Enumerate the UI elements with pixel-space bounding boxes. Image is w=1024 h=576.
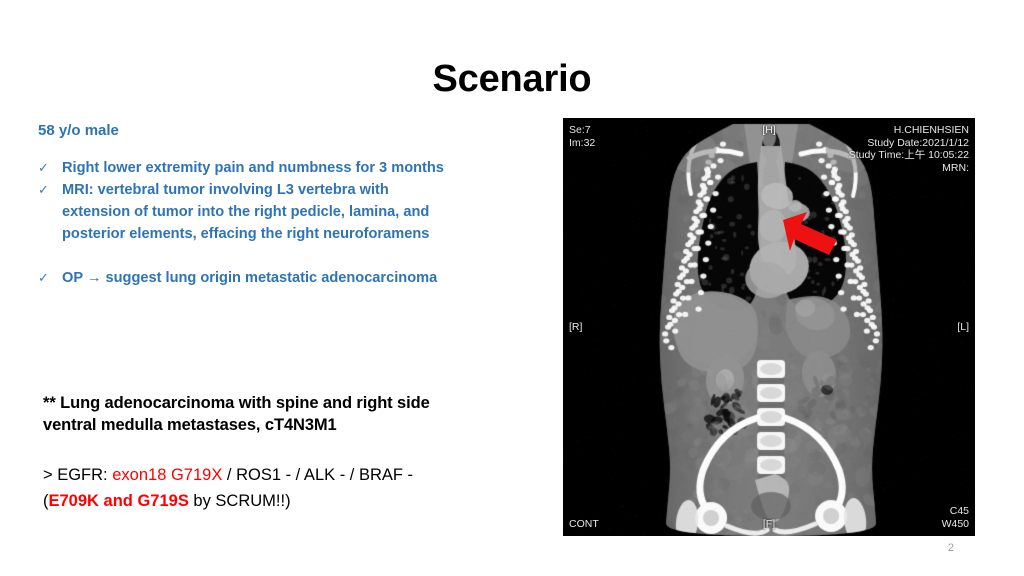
ct-orientation-feet: [F] <box>563 518 975 531</box>
history-bullet-2-text: MRI: vertebral tumor involving L3 verteb… <box>62 179 528 245</box>
ct-mrn: MRN: <box>942 162 969 174</box>
history-bullet-2: ✓ MRI: vertebral tumor involving L3 vert… <box>38 179 528 245</box>
ct-window-width: W450 <box>942 518 969 530</box>
mutation-line-1: > EGFR: exon18 G719X / ROS1 - / ALK - / … <box>43 462 543 488</box>
ct-scan-canvas <box>563 118 975 536</box>
red-arrow-icon <box>781 208 841 258</box>
clinical-history-block: 58 y/o male ✓ Right lower extremity pain… <box>38 122 528 289</box>
ct-contrast-label: CONT <box>569 518 599 531</box>
history-bullet-3: ✓ OP → suggest lung origin metastatic ad… <box>38 267 528 289</box>
page-number: 2 <box>948 542 954 554</box>
check-icon: ✓ <box>38 157 62 179</box>
mutation-line-1-suffix: / ROS1 - / ALK - / BRAF - <box>222 466 413 484</box>
mutation-line-1-highlight: exon18 G719X <box>112 466 222 484</box>
history-bullet-3-line-1: OP → suggest lung origin metastatic aden… <box>62 267 528 289</box>
mutation-line-1-prefix: > EGFR: <box>43 466 112 484</box>
diagnosis-line-1: ** Lung adenocarcinoma with spine and ri… <box>43 394 430 412</box>
page-title: Scenario <box>0 58 1024 101</box>
history-bullet-2-line-3: posterior elements, effacing the right n… <box>62 226 429 242</box>
ct-scan-image: Se:7Im:32 H.CHIENHSIENStudy Date:2021/1/… <box>563 118 975 536</box>
diagnosis-line-2: ventral medulla metastases, cT4N3M1 <box>43 416 337 434</box>
diagnosis-block: ** Lung adenocarcinoma with spine and ri… <box>43 392 543 436</box>
ct-orientation-left: [L] <box>957 321 969 334</box>
history-bullet-2-line-2: extension of tumor into the right pedicl… <box>62 204 429 220</box>
ct-image-number-label: Im:32 <box>569 137 595 149</box>
history-bullet-2-line-1: MRI: vertebral tumor involving L3 verteb… <box>62 182 389 198</box>
mutation-line-2-highlight: E709K and G719S <box>49 492 189 510</box>
ct-orientation-right: [R] <box>569 321 582 334</box>
presentation-slide: Scenario 58 y/o male ✓ Right lower extre… <box>0 0 1024 576</box>
ct-study-time: Study Time:上午 10:05:22 <box>849 149 969 161</box>
history-bullet-1: ✓ Right lower extremity pain and numbnes… <box>38 157 528 179</box>
ct-window-settings: C45W450 <box>942 505 969 530</box>
bullet-spacer <box>38 245 528 267</box>
ct-window-center: C45 <box>950 505 969 517</box>
history-bullet-1-line-1: Right lower extremity pain and numbness … <box>62 157 528 179</box>
ct-study-date: Study Date:2021/1/12 <box>867 137 969 149</box>
patient-demographics: 58 y/o male <box>38 122 528 139</box>
molecular-profile-block: > EGFR: exon18 G719X / ROS1 - / ALK - / … <box>43 462 543 514</box>
check-icon: ✓ <box>38 179 62 201</box>
mutation-line-2-suffix: by SCRUM!!) <box>189 492 291 510</box>
diagnosis-text: ** Lung adenocarcinoma with spine and ri… <box>43 392 543 436</box>
mutation-line-2: (E709K and G719S by SCRUM!!) <box>43 488 543 514</box>
ct-orientation-head: [H] <box>563 124 975 137</box>
check-icon: ✓ <box>38 267 62 289</box>
